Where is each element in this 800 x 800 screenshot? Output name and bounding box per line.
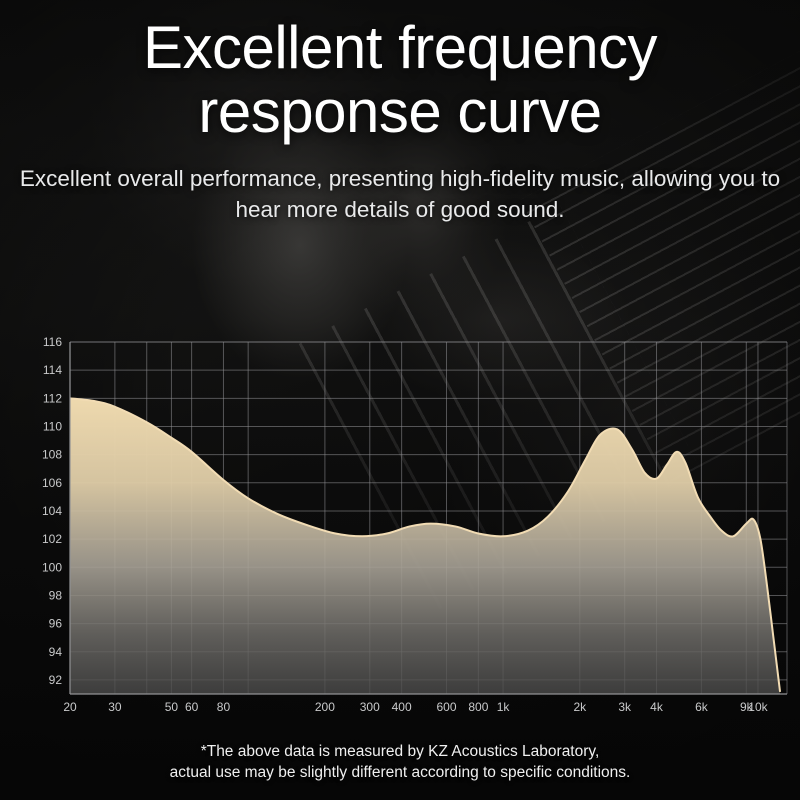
- x-tick-label: 4k: [650, 700, 664, 714]
- chart-area-fill: [70, 398, 780, 702]
- page-subtitle: Excellent overall performance, presentin…: [0, 164, 800, 225]
- x-tick-label: 30: [108, 700, 122, 714]
- y-tick-label: 114: [43, 363, 62, 377]
- frequency-response-infographic: Excellent frequency response curve Excel…: [0, 0, 800, 800]
- y-axis-tick-labels: 92949698100102104106108110112114116: [42, 335, 62, 687]
- x-tick-label: 300: [360, 700, 380, 714]
- y-tick-label: 102: [42, 532, 62, 546]
- x-tick-label: 200: [315, 700, 335, 714]
- y-tick-label: 108: [42, 448, 62, 462]
- x-tick-label: 10k: [748, 700, 768, 714]
- footnote-line-1: *The above data is measured by KZ Acoust…: [0, 742, 800, 763]
- response-area: [70, 398, 780, 702]
- page-title: Excellent frequency response curve: [0, 16, 800, 144]
- x-tick-label: 600: [436, 700, 456, 714]
- y-tick-label: 106: [42, 476, 62, 490]
- y-tick-label: 100: [42, 560, 62, 574]
- x-tick-label: 50: [165, 700, 179, 714]
- x-tick-label: 20: [63, 700, 77, 714]
- header: Excellent frequency response curve Excel…: [0, 16, 800, 225]
- x-tick-label: 3k: [618, 700, 632, 714]
- footnote-line-2: actual use may be slightly different acc…: [0, 763, 800, 784]
- y-tick-label: 112: [43, 391, 62, 405]
- footnote: *The above data is measured by KZ Acoust…: [0, 742, 800, 784]
- x-tick-label: 6k: [695, 700, 709, 714]
- y-tick-label: 92: [49, 673, 63, 687]
- y-tick-label: 94: [49, 645, 63, 659]
- y-tick-label: 110: [43, 419, 62, 433]
- x-tick-label: 400: [392, 700, 412, 714]
- x-tick-label: 60: [185, 700, 199, 714]
- x-tick-label: 800: [468, 700, 488, 714]
- x-axis-tick-labels: 20305060802003004006008001k2k3k4k6k9k10k: [63, 700, 768, 714]
- y-tick-label: 96: [49, 617, 63, 631]
- y-tick-label: 98: [49, 588, 63, 602]
- x-tick-label: 80: [217, 700, 231, 714]
- y-tick-label: 116: [43, 335, 62, 349]
- x-tick-label: 2k: [573, 700, 587, 714]
- y-tick-label: 104: [42, 504, 62, 518]
- x-tick-label: 1k: [497, 700, 511, 714]
